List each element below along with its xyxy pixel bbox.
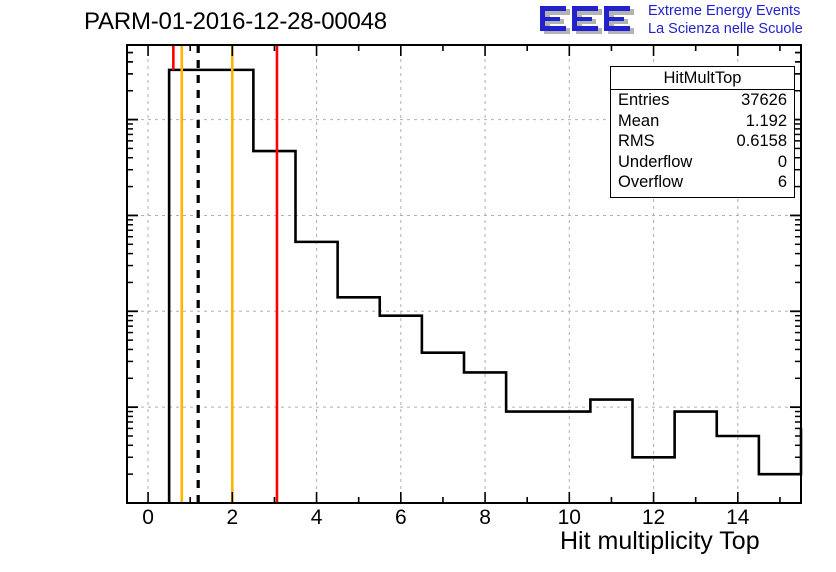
stats-row: Mean1.192 xyxy=(611,111,794,132)
stats-row-label: RMS xyxy=(618,131,655,152)
stats-row-value: 1.192 xyxy=(746,111,787,132)
x-tick-label: 0 xyxy=(142,506,154,530)
stats-row-value: 0 xyxy=(778,152,787,173)
stats-row-value: 6 xyxy=(778,172,787,193)
stats-row-value: 37626 xyxy=(741,90,787,111)
stats-title: HitMultTop xyxy=(611,67,794,90)
stats-row-label: Overflow xyxy=(618,172,683,193)
stats-row-label: Mean xyxy=(618,111,659,132)
x-tick-label: 2 xyxy=(226,506,238,530)
x-tick-label: 8 xyxy=(479,506,491,530)
stats-row: RMS0.6158 xyxy=(611,131,794,152)
x-tick-label: 6 xyxy=(395,506,407,530)
x-axis-title: Hit multiplicity Top xyxy=(560,527,760,556)
stats-row-value: 0.6158 xyxy=(737,131,787,152)
stats-row: Overflow6 xyxy=(611,172,794,193)
stats-row-label: Underflow xyxy=(618,152,692,173)
stats-row: Underflow0 xyxy=(611,152,794,173)
stats-rows: Entries37626Mean1.192RMS0.6158Underflow0… xyxy=(611,90,794,193)
stats-row-label: Entries xyxy=(618,90,669,111)
histogram-canvas: PARM-01-2016-12-28-00048 Extreme Energy … xyxy=(0,0,836,572)
x-tick-label: 4 xyxy=(311,506,323,530)
stats-row: Entries37626 xyxy=(611,90,794,111)
stats-box: HitMultTop Entries37626Mean1.192RMS0.615… xyxy=(610,66,795,198)
